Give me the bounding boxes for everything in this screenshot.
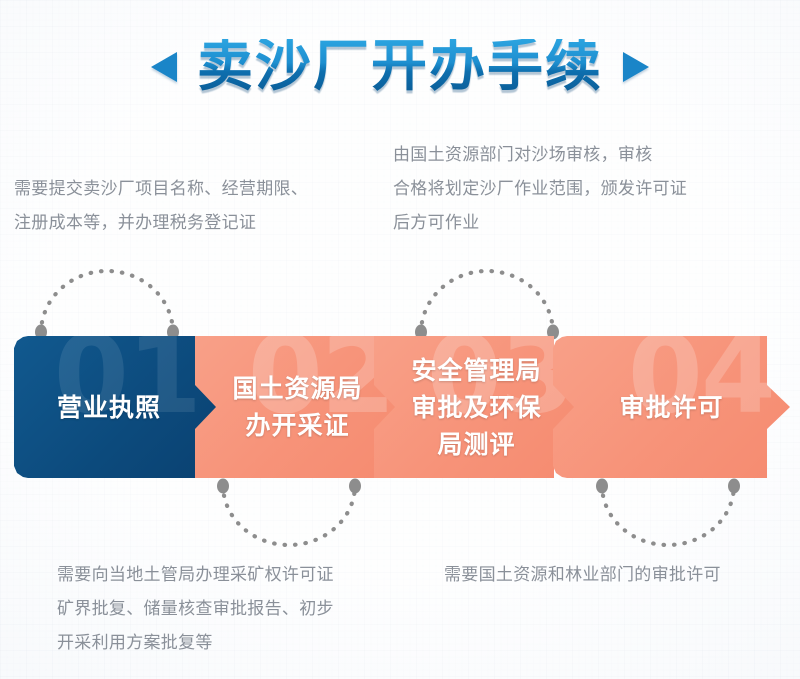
dotted-arc-down-icon-1 — [216, 478, 362, 560]
description-step-1: 需要提交卖沙厂项目名称、经营期限、 注册成本等，并办理税务登记证 — [14, 172, 386, 240]
page-title: 卖沙厂开办手续 — [197, 39, 603, 95]
process-step-2[interactable]: 02 国土资源局 办开采证 — [195, 336, 398, 478]
description-step-4: 需要国土资源和林业部门的审批许可 — [444, 558, 800, 592]
step-label-3: 安全管理局 审批及环保 局测评 — [405, 352, 547, 463]
step-label-4: 审批许可 — [613, 389, 729, 426]
dotted-arc-up-icon-1 — [34, 256, 180, 340]
triangle-right-icon — [623, 52, 649, 82]
dotted-arc-down-icon-2 — [595, 478, 741, 560]
process-step-row: 01 营业执照 02 国土资源局 办开采证 03 安全管理局 审批及环保 局测评… — [0, 336, 800, 478]
description-step-2: 需要向当地土管局办理采矿权许可证 矿界批复、储量核查审批报告、初步 开采利用方案… — [57, 558, 417, 660]
description-step-3: 由国土资源部门对沙场审核，审核 合格将划定沙厂作业范围，颁发许可证 后方可作业 — [393, 138, 773, 240]
page-title-row: 卖沙厂开办手续 — [0, 22, 800, 112]
process-step-4[interactable]: 04 审批许可 — [553, 336, 790, 478]
process-step-1[interactable]: 01 营业执照 — [14, 336, 222, 478]
triangle-left-icon — [151, 52, 177, 82]
dotted-arc-up-icon-2 — [414, 256, 560, 340]
step-label-1: 营业执照 — [51, 389, 167, 426]
step-label-2: 国土资源局 办开采证 — [226, 370, 368, 444]
process-step-3[interactable]: 03 安全管理局 审批及环保 局测评 — [374, 336, 577, 478]
